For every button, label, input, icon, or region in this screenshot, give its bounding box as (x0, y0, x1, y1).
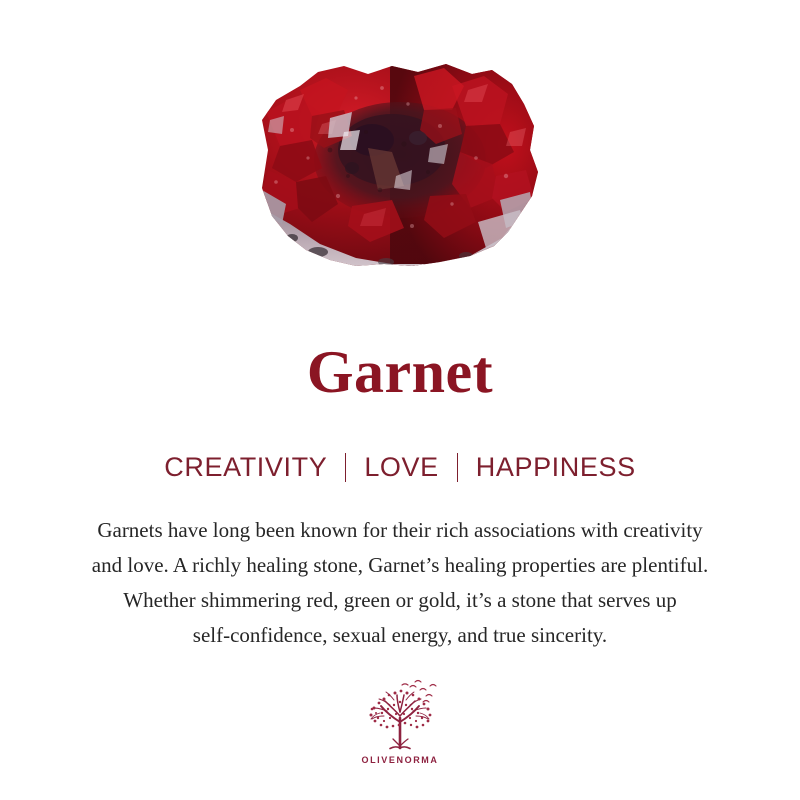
garnet-crystal-illustration (0, 0, 800, 300)
description-line: self-confidence, sexual energy, and true… (20, 618, 780, 653)
page-title: Garnet (307, 342, 493, 402)
keyword-separator (345, 453, 346, 482)
crystal-info-card: Garnet CREATIVITY LOVE HAPPINESS Garnets… (0, 0, 800, 800)
keyword-separator (457, 453, 458, 482)
garnet-stone-image (0, 0, 800, 300)
brand-wordmark: OLIVENORMA (361, 755, 438, 765)
keyword-love: LOVE (364, 452, 438, 483)
description-line: Garnets have long been known for their r… (20, 513, 780, 548)
keyword-creativity: CREATIVITY (164, 452, 327, 483)
keyword-happiness: HAPPINESS (476, 452, 636, 483)
stone-body (250, 55, 555, 280)
tree-of-life-icon (354, 678, 446, 752)
keyword-list: CREATIVITY LOVE HAPPINESS (164, 452, 635, 483)
description-text: Garnets have long been known for their r… (20, 513, 780, 653)
description-line: and love. A richly healing stone, Garnet… (20, 548, 780, 583)
brand-logo: OLIVENORMA (0, 678, 800, 765)
description-line: Whether shimmering red, green or gold, i… (20, 583, 780, 618)
